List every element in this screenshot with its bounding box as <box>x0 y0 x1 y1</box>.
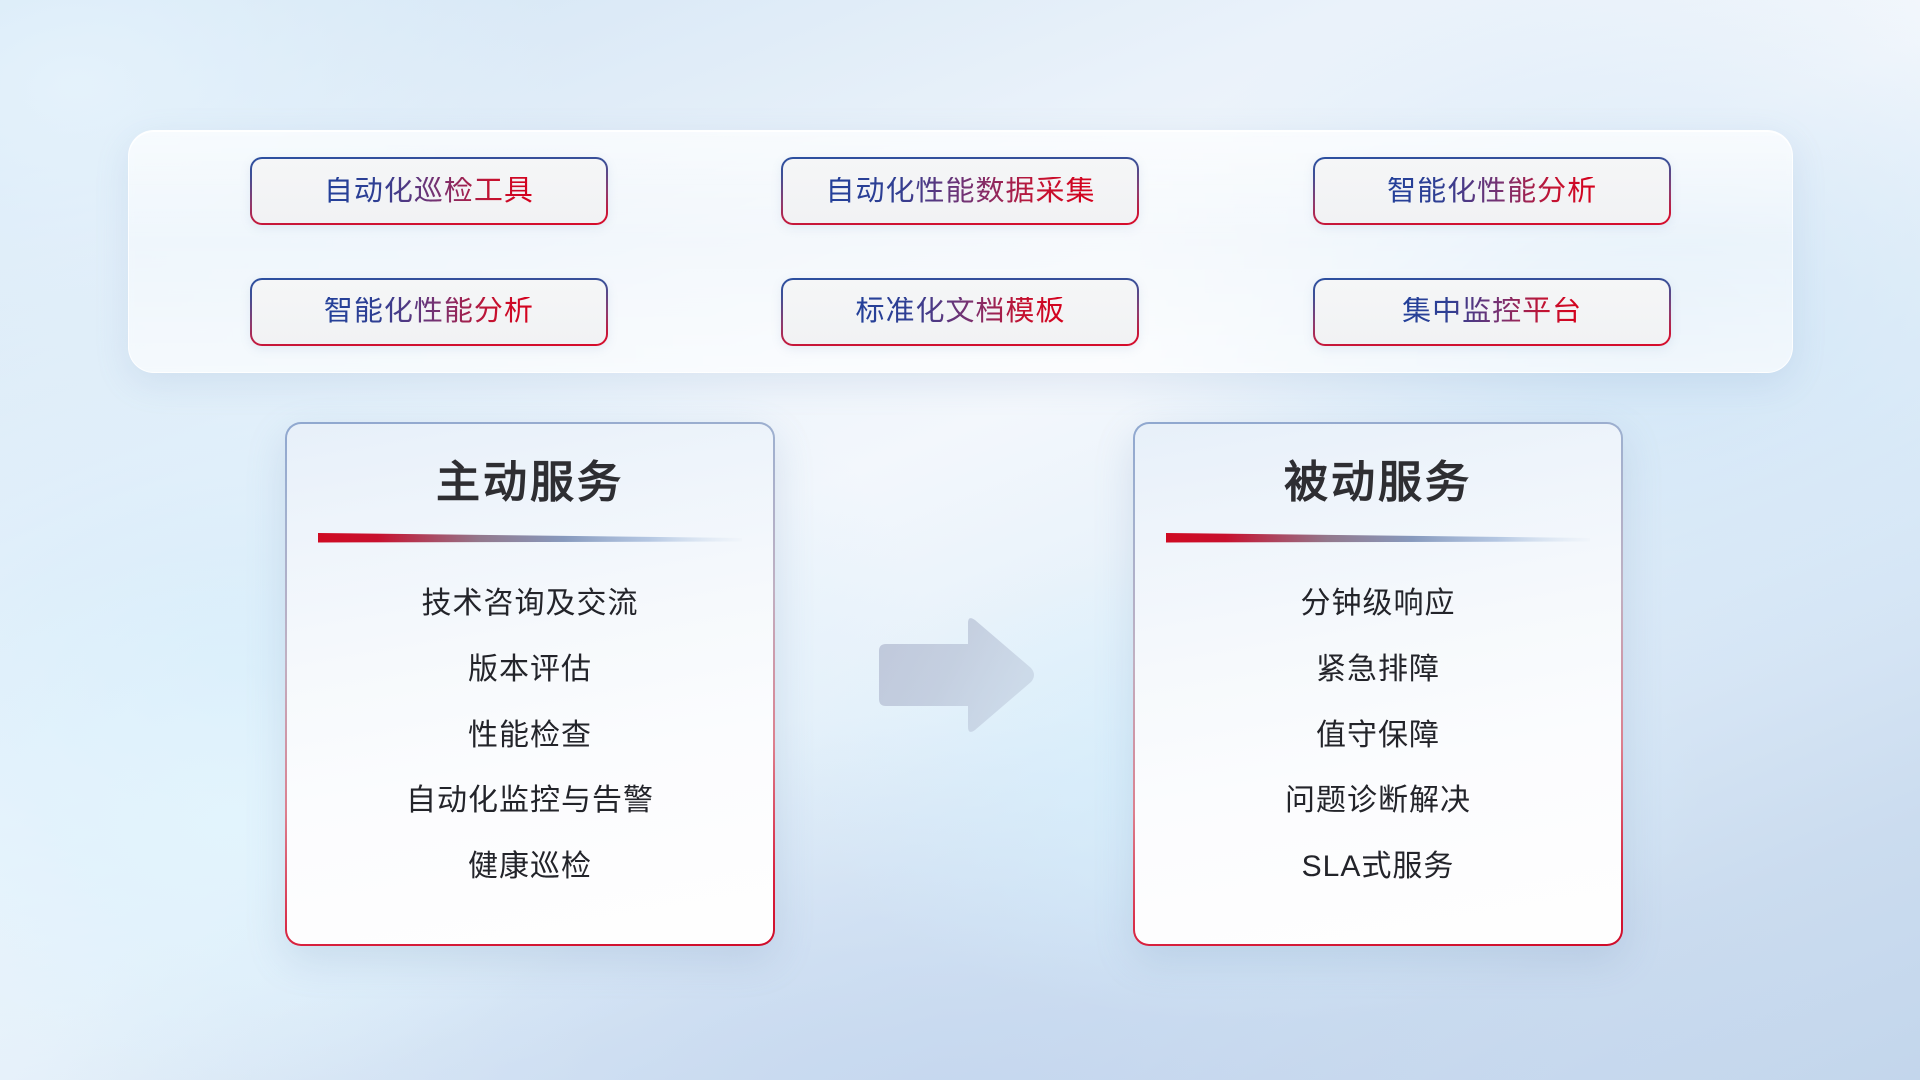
passive-service-title: 被动服务 <box>1284 458 1472 507</box>
capability-chip-4-label: 智能化性能分析 <box>324 297 534 326</box>
capability-chip-3[interactable]: 智能化性能分析 <box>1313 157 1671 225</box>
active-service-divider <box>318 531 742 545</box>
list-item: 问题诊断解决 <box>1285 786 1471 816</box>
list-item: 自动化监控与告警 <box>406 786 654 816</box>
list-item: 性能检查 <box>468 721 592 751</box>
slide-canvas: 自动化巡检工具 自动化性能数据采集 智能化性能分析 智能化性能分析 标准化文档模… <box>0 0 1920 1080</box>
capability-chip-5-label: 标准化文档模板 <box>855 297 1065 326</box>
active-service-card-body: 主动服务 <box>287 424 773 944</box>
capability-chip-6-body: 集中监控平台 <box>1315 280 1669 344</box>
passive-service-card[interactable]: 被动服务 <box>1133 422 1623 946</box>
capability-chip-6-label: 集中监控平台 <box>1402 297 1582 326</box>
list-item: 分钟级响应 <box>1301 589 1456 619</box>
capability-chip-3-body: 智能化性能分析 <box>1315 159 1669 223</box>
passive-service-card-body: 被动服务 <box>1135 424 1621 944</box>
capability-chip-2[interactable]: 自动化性能数据采集 <box>781 157 1139 225</box>
list-item: 版本评估 <box>468 655 592 685</box>
capability-chip-2-label: 自动化性能数据采集 <box>825 177 1095 206</box>
list-item: 值守保障 <box>1316 721 1440 751</box>
active-service-card[interactable]: 主动服务 <box>285 422 775 946</box>
passive-service-list: 分钟级响应 紧急排障 值守保障 问题诊断解决 SLA式服务 <box>1165 553 1591 918</box>
capability-chip-4-body: 智能化性能分析 <box>252 280 606 344</box>
list-item: 健康巡检 <box>468 852 592 882</box>
capability-chip-2-body: 自动化性能数据采集 <box>783 159 1137 223</box>
capability-chip-5[interactable]: 标准化文档模板 <box>781 278 1139 346</box>
capability-panel: 自动化巡检工具 自动化性能数据采集 智能化性能分析 智能化性能分析 标准化文档模… <box>128 130 1793 373</box>
capability-chip-6[interactable]: 集中监控平台 <box>1313 278 1671 346</box>
capability-chip-4[interactable]: 智能化性能分析 <box>250 278 608 346</box>
list-item: 紧急排障 <box>1316 655 1440 685</box>
passive-service-divider <box>1166 531 1590 545</box>
capability-chip-1-body: 自动化巡检工具 <box>252 159 606 223</box>
list-item: SLA式服务 <box>1302 852 1455 882</box>
capability-chip-3-label: 智能化性能分析 <box>1387 177 1597 206</box>
active-service-list: 技术咨询及交流 版本评估 性能检查 自动化监控与告警 健康巡检 <box>317 553 743 918</box>
arrow-right-icon <box>873 613 1038 738</box>
capability-chip-1-label: 自动化巡检工具 <box>324 177 534 206</box>
capability-chip-5-body: 标准化文档模板 <box>783 280 1137 344</box>
capability-chip-1[interactable]: 自动化巡检工具 <box>250 157 608 225</box>
active-service-title: 主动服务 <box>436 458 624 507</box>
list-item: 技术咨询及交流 <box>422 589 639 619</box>
